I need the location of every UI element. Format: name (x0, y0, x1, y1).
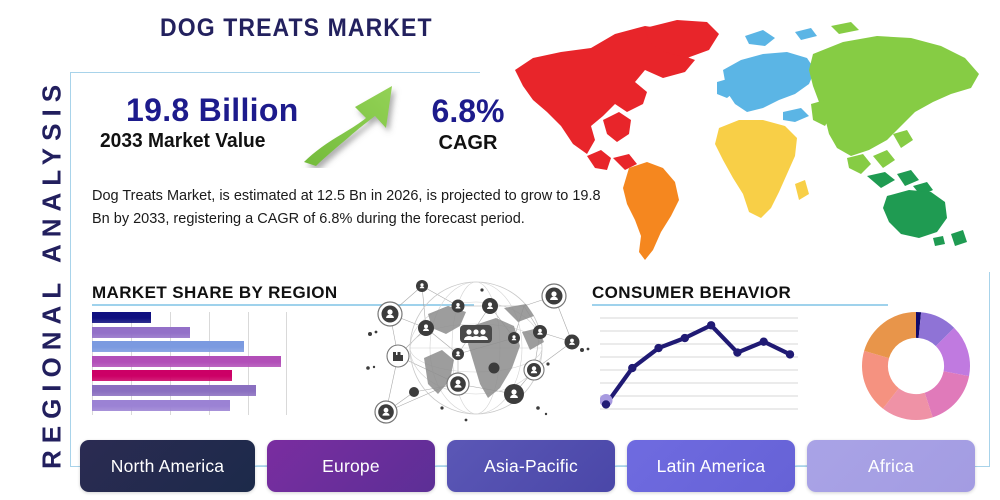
line-marker (628, 364, 636, 372)
bar-item (92, 400, 230, 411)
global-network-globe-icon (362, 272, 590, 428)
region-tab-bar: North AmericaEuropeAsia-PacificLatin Ame… (80, 440, 985, 492)
line-marker (760, 337, 768, 345)
donut-chart-svg (858, 308, 974, 424)
region-tab-asia-pacific[interactable]: Asia-Pacific (447, 440, 615, 492)
growth-arrow-icon (300, 82, 410, 168)
infographic-root: DOG TREATS MARKET REGIONAL ANALYSIS 19.8… (0, 0, 1000, 500)
line-marker (733, 348, 741, 356)
section-rule-consumer-behavior (592, 304, 888, 306)
bar-item (92, 356, 281, 367)
line-chart-svg (600, 312, 798, 417)
line-marker (602, 400, 610, 408)
bar-item (92, 370, 232, 381)
section-header-market-share: MARKET SHARE BY REGION (92, 283, 338, 303)
world-map-graphic (495, 8, 995, 270)
section-header-consumer-behavior: CONSUMER BEHAVIOR (592, 283, 791, 303)
bar-gridline (286, 312, 287, 415)
bar-item (92, 327, 190, 338)
market-value-number: 19.8 Billion (126, 92, 299, 129)
donut-segment (864, 312, 916, 358)
region-tab-africa[interactable]: Africa (807, 440, 975, 492)
bar-item (92, 341, 244, 352)
region-tab-north-america[interactable]: North America (80, 440, 255, 492)
line-marker (707, 321, 715, 329)
bar-item (92, 312, 151, 323)
line-marker (654, 344, 662, 352)
regional-donut-chart (858, 308, 974, 424)
side-label-regional-analysis: REGIONAL ANALYSIS (37, 64, 68, 484)
market-share-bar-chart (92, 312, 287, 415)
bar-item (92, 385, 256, 396)
region-tab-latin-america[interactable]: Latin America (627, 440, 795, 492)
page-title: DOG TREATS MARKET (160, 14, 433, 43)
consumer-behavior-line-chart (600, 312, 798, 417)
line-marker (681, 334, 689, 342)
market-value-label: 2033 Market Value (100, 130, 265, 153)
donut-segment (925, 371, 969, 417)
region-tab-europe[interactable]: Europe (267, 440, 435, 492)
line-marker (786, 350, 794, 358)
